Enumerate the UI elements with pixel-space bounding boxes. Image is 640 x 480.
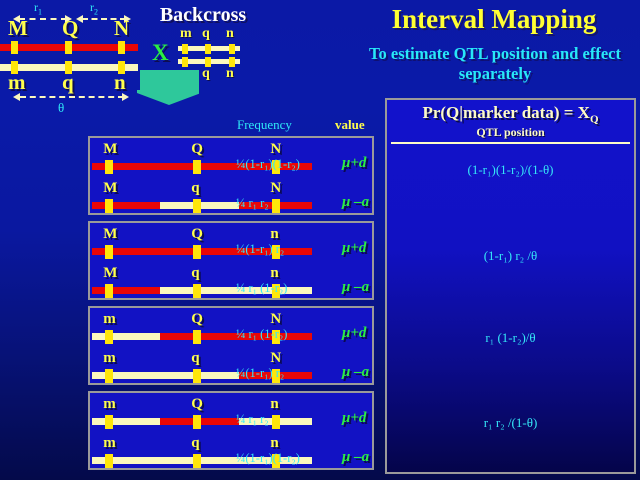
- allele-label-n: n: [270, 396, 278, 413]
- genotype-row: mqN¼(1-r₁) r₂μ –a: [90, 347, 376, 386]
- allele-label-m: m: [103, 311, 116, 328]
- allele-label-n: n: [270, 265, 278, 282]
- frequency-expression: ¼ r₁ r₂: [236, 412, 336, 427]
- allele-label-M: M: [103, 226, 117, 243]
- genotype-group: MQN¼(1-r₁)(1-r₂)μ+dMqN¼ r₁ r₂μ –a: [88, 136, 374, 215]
- allele-label-Q: Q: [191, 226, 203, 243]
- prob-formula-3: r₁ (1-r₂)/θ: [387, 330, 634, 346]
- allele-Q-top: Q: [62, 18, 78, 39]
- marker-tick-m: [105, 454, 113, 468]
- allele-m-bottom: m: [8, 72, 26, 93]
- cross-symbol: X: [152, 40, 169, 66]
- marker-tick-q: [193, 454, 201, 468]
- chromosome-segment-cream: [92, 333, 160, 340]
- marker-tick-M: [105, 160, 113, 174]
- marker-tick-M: [105, 199, 113, 213]
- marker-tick-q: [193, 369, 201, 383]
- allele-label-Q: Q: [191, 396, 203, 413]
- genotype-row: MqN¼ r₁ r₂μ –a: [90, 177, 376, 216]
- theta-arrowhead-left: [13, 93, 20, 101]
- theta-label: θ: [58, 100, 64, 116]
- value-column-header: value: [335, 117, 365, 133]
- allele-label-N: N: [270, 350, 281, 367]
- frequency-column-header: Frequency: [237, 117, 292, 133]
- allele-label-q: q: [191, 435, 199, 452]
- bc-allele-q-bottom: q: [202, 66, 210, 82]
- genotypic-value: μ –a: [342, 449, 378, 466]
- allele-label-N: N: [270, 180, 281, 197]
- genotypic-value: μ+d: [342, 155, 378, 172]
- allele-n-bottom: n: [114, 72, 126, 93]
- allele-label-q: q: [191, 265, 199, 282]
- frequency-expression: ¼(1-r₁) r₂: [236, 242, 336, 257]
- genotype-row: mqn¼(1-r₁)(1-r₂)μ –a: [90, 432, 376, 471]
- parental-genotype-diagram: r1 r2 M Q N m q n: [0, 0, 150, 108]
- genotypic-value: μ –a: [342, 364, 378, 381]
- genotype-group: mQN¼ r₁ (1-r₂)μ+dmqN¼(1-r₁) r₂μ –a: [88, 306, 374, 385]
- allele-label-n: n: [270, 435, 278, 452]
- marker-tick-Q: [65, 41, 72, 54]
- genotype-row: mQN¼ r₁ (1-r₂)μ+d: [90, 308, 376, 347]
- genotype-row: MQn¼(1-r₁) r₂μ+d: [90, 223, 376, 262]
- genotypic-value: μ –a: [342, 279, 378, 296]
- allele-label-Q: Q: [191, 311, 203, 328]
- marker-tick-q: [193, 284, 201, 298]
- panel-divider: [391, 142, 630, 144]
- page-title: Interval Mapping: [352, 4, 636, 35]
- bc-tick-m-1: [182, 44, 188, 54]
- allele-label-M: M: [103, 180, 117, 197]
- backcross-heading: Backcross: [150, 4, 256, 27]
- allele-label-m: m: [103, 396, 116, 413]
- bc-allele-q-top: q: [202, 26, 210, 42]
- allele-label-N: N: [270, 141, 281, 158]
- allele-label-n: n: [270, 226, 278, 243]
- bc-allele-m-top: m: [180, 26, 192, 42]
- prob-formula-1: (1-r₁)(1-r₂)/(1-θ): [387, 162, 634, 178]
- genotypic-value: μ –a: [342, 194, 378, 211]
- marker-tick-Q: [193, 415, 201, 429]
- probability-panel: Pr(Q|marker data) = XQ QTL position (1-r…: [385, 98, 636, 474]
- theta-arrowhead-right: [122, 93, 129, 101]
- marker-tick-m: [105, 415, 113, 429]
- page-subtitle: To estimate QTL position and effect sepa…: [350, 44, 640, 84]
- genotypic-value: μ+d: [342, 240, 378, 257]
- marker-tick-Q: [193, 160, 201, 174]
- bc-allele-n-top: n: [226, 26, 234, 42]
- marker-tick-q: [193, 199, 201, 213]
- genotype-group: mQn¼ r₁ r₂μ+dmqn¼(1-r₁)(1-r₂)μ –a: [88, 391, 374, 470]
- marker-tick-m: [105, 330, 113, 344]
- genotype-row: Mqn¼ r₁ (1-r₂)μ –a: [90, 262, 376, 301]
- r2-label: r2: [90, 0, 98, 16]
- genotypic-value: μ+d: [342, 325, 378, 342]
- prob-formula-2: (1-r₁) r₂ /θ: [387, 248, 634, 264]
- genotypic-value: μ+d: [342, 410, 378, 427]
- theta-interval-arrow: [20, 96, 124, 99]
- allele-label-m: m: [103, 350, 116, 367]
- r1-label: r1: [34, 0, 42, 16]
- allele-label-N: N: [270, 311, 281, 328]
- chromosome-segment-red: [92, 202, 160, 209]
- frequency-expression: ¼ r₁ (1-r₂): [236, 281, 336, 296]
- bc-allele-n-bottom: n: [226, 66, 234, 82]
- genotype-group: MQn¼(1-r₁) r₂μ+dMqn¼ r₁ (1-r₂)μ –a: [88, 221, 374, 300]
- allele-label-Q: Q: [191, 141, 203, 158]
- allele-N-top: N: [114, 18, 129, 39]
- chromosome-segment-cream: [92, 418, 160, 425]
- allele-label-m: m: [103, 435, 116, 452]
- down-arrow-icon: [137, 70, 199, 105]
- frequency-expression: ¼ r₁ r₂: [236, 196, 336, 211]
- marker-tick-M: [105, 245, 113, 259]
- frequency-expression: ¼(1-r₁)(1-r₂): [236, 451, 336, 466]
- genotype-row: mQn¼ r₁ r₂μ+d: [90, 393, 376, 432]
- allele-q-bottom: q: [62, 72, 74, 93]
- allele-M-top: M: [8, 18, 28, 39]
- frequency-expression: ¼(1-r₁) r₂: [236, 366, 336, 381]
- chromosome-segment-red: [92, 287, 160, 294]
- allele-label-M: M: [103, 265, 117, 282]
- probability-panel-heading: Pr(Q|marker data) = XQ: [387, 103, 634, 125]
- prob-formula-4: r₁ r₂ /(1-θ): [387, 415, 634, 431]
- allele-label-q: q: [191, 350, 199, 367]
- marker-tick-m: [105, 369, 113, 383]
- genotype-row: MQN¼(1-r₁)(1-r₂)μ+d: [90, 138, 376, 177]
- allele-label-M: M: [103, 141, 117, 158]
- bc-tick-q-1: [205, 44, 211, 54]
- slide-canvas: Interval Mapping To estimate QTL positio…: [0, 0, 640, 480]
- chromosome-segment-cream: [92, 372, 239, 379]
- frequency-expression: ¼(1-r₁)(1-r₂): [236, 157, 336, 172]
- bc-tick-n-1: [229, 44, 235, 54]
- probability-panel-subtitle: QTL position: [387, 125, 634, 140]
- marker-tick-Q: [193, 245, 201, 259]
- marker-tick-Q: [193, 330, 201, 344]
- marker-tick-M: [105, 284, 113, 298]
- allele-label-q: q: [191, 180, 199, 197]
- frequency-expression: ¼ r₁ (1-r₂): [236, 327, 336, 342]
- marker-tick-N: [118, 41, 125, 54]
- marker-tick-M: [11, 41, 18, 54]
